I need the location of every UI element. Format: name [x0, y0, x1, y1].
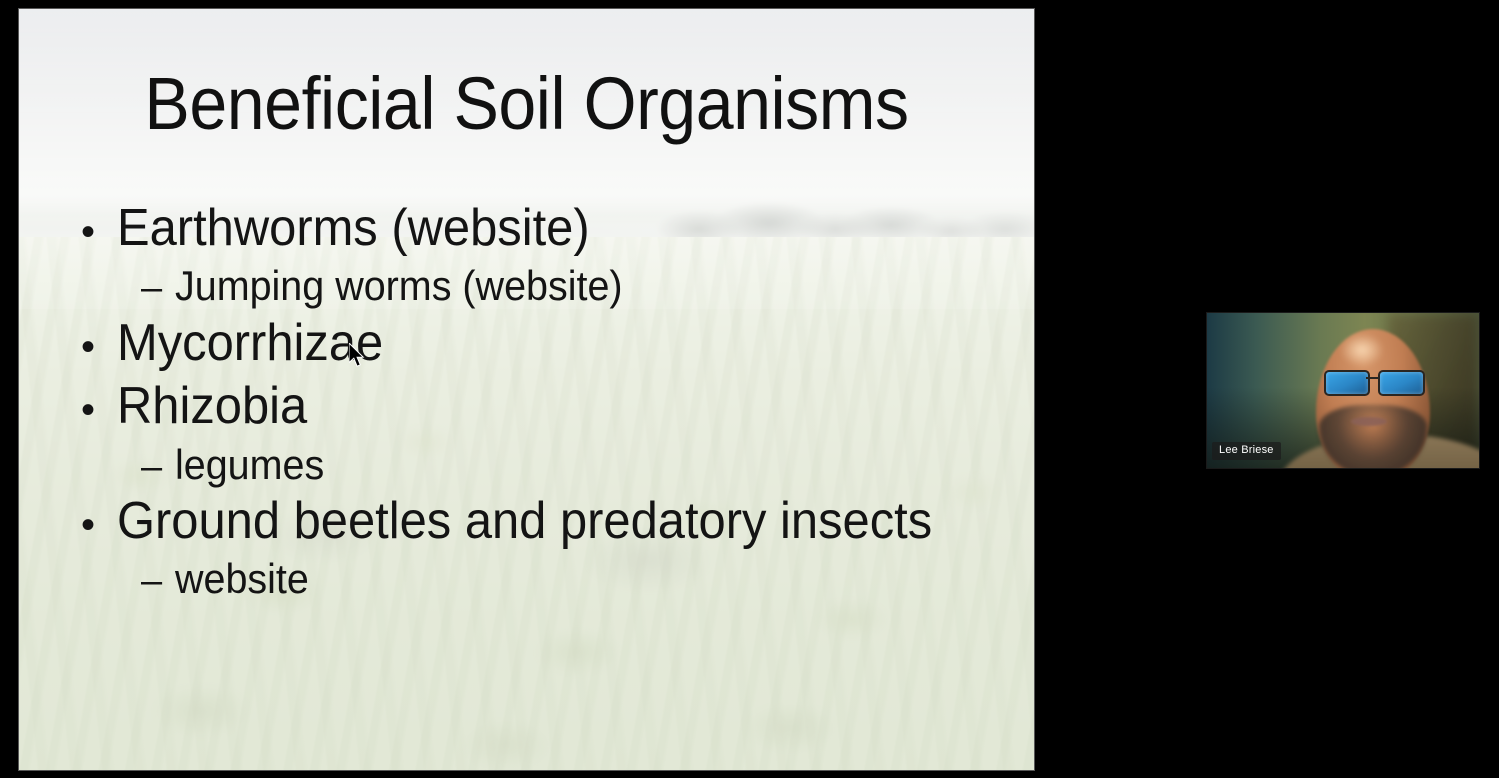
bullet-text: Rhizobia: [117, 375, 307, 438]
bullet-text: Jumping worms (website): [175, 260, 623, 311]
bullet-item-legumes: – legumes: [81, 439, 994, 490]
dash-marker-icon: –: [141, 269, 175, 307]
bullet-text: Ground beetles and predatory insects: [117, 490, 932, 553]
dash-marker-icon: –: [141, 448, 175, 486]
participant-name-badge: Lee Briese: [1212, 442, 1281, 460]
bullet-marker-icon: •: [81, 390, 117, 430]
participant-beard: [1319, 405, 1428, 468]
participant-mouth: [1351, 417, 1386, 426]
participant-glasses-icon: [1324, 370, 1425, 392]
bullet-item-jumping-worms: – Jumping worms (website): [81, 260, 994, 311]
bullet-text: legumes: [175, 439, 324, 490]
participant-video-tile[interactable]: Lee Briese: [1207, 313, 1479, 468]
shared-slide[interactable]: Beneficial Soil Organisms • Earthworms (…: [19, 9, 1034, 770]
glasses-right-lens: [1378, 370, 1424, 396]
slide-content: Beneficial Soil Organisms • Earthworms (…: [19, 9, 1034, 770]
bullet-item-rhizobia: • Rhizobia: [81, 375, 994, 438]
bullet-marker-icon: •: [81, 327, 117, 367]
bullet-item-earthworms: • Earthworms (website): [81, 197, 994, 260]
bullet-marker-icon: •: [81, 212, 117, 252]
slide-title: Beneficial Soil Organisms: [60, 67, 994, 141]
bullet-marker-icon: •: [81, 505, 117, 545]
bullet-item-website: – website: [81, 553, 994, 604]
screen-share-stage: Beneficial Soil Organisms • Earthworms (…: [0, 0, 1499, 778]
bullet-item-ground-beetles: • Ground beetles and predatory insects: [81, 490, 994, 553]
bullet-text: Mycorrhizae: [117, 312, 383, 375]
bullet-text: Earthworms (website): [117, 197, 590, 260]
glasses-left-lens: [1324, 370, 1370, 396]
slide-bullet-list: • Earthworms (website) – Jumping worms (…: [81, 197, 994, 604]
bullet-text: website: [175, 553, 309, 604]
bullet-item-mycorrhizae: • Mycorrhizae: [81, 312, 994, 375]
participant-head-highlight: [1340, 333, 1384, 367]
dash-marker-icon: –: [141, 562, 175, 600]
